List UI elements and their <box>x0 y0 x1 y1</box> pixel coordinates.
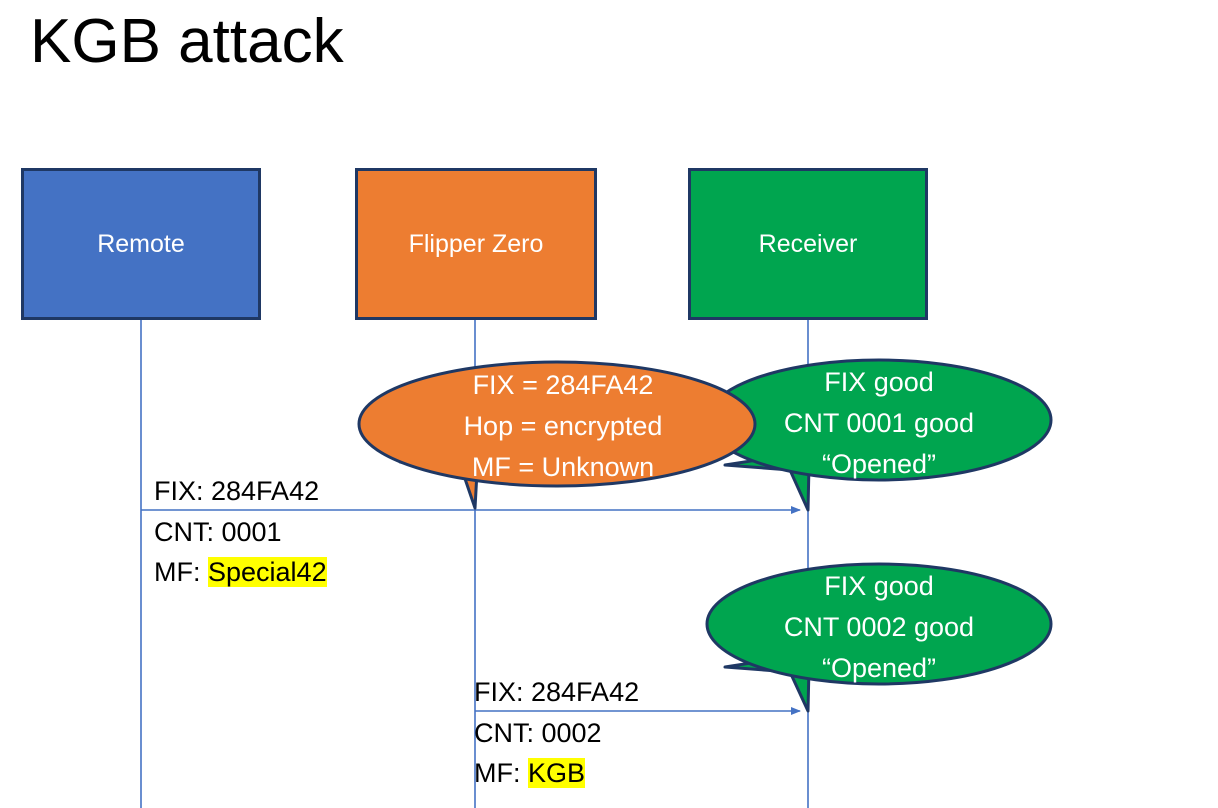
actor-box-receiver[interactable]: Receiver <box>688 168 928 320</box>
message-1-labels: FIX: 284FA42 CNT: 0001 MF: Special42 <box>154 471 327 592</box>
receiver-bubble-2 <box>707 564 1051 711</box>
message-2-mf: MF: KGB <box>474 753 639 793</box>
actor-box-remote[interactable]: Remote <box>21 168 261 320</box>
actor-label-receiver: Receiver <box>759 230 858 259</box>
actor-box-flipper[interactable]: Flipper Zero <box>355 168 597 320</box>
message-1-mf-value: Special42 <box>208 557 327 587</box>
message-2-fix: FIX: 284FA42 <box>474 672 639 712</box>
message-1-mf-label: MF: <box>154 557 208 587</box>
flipper-bubble <box>359 362 755 508</box>
message-1-mf: MF: Special42 <box>154 552 327 592</box>
actor-label-remote: Remote <box>97 230 185 259</box>
actor-label-flipper: Flipper Zero <box>409 230 544 259</box>
message-1-cnt: CNT: 0001 <box>154 512 327 552</box>
slide-canvas: KGB attack <box>0 0 1218 808</box>
message-2-cnt: CNT: 0002 <box>474 713 639 753</box>
receiver-bubble-1 <box>707 360 1051 510</box>
message-2-mf-label: MF: <box>474 758 528 788</box>
message-1-fix: FIX: 284FA42 <box>154 471 327 511</box>
message-2-labels: FIX: 284FA42 CNT: 0002 MF: KGB <box>474 672 639 793</box>
message-2-mf-value: KGB <box>528 758 585 788</box>
